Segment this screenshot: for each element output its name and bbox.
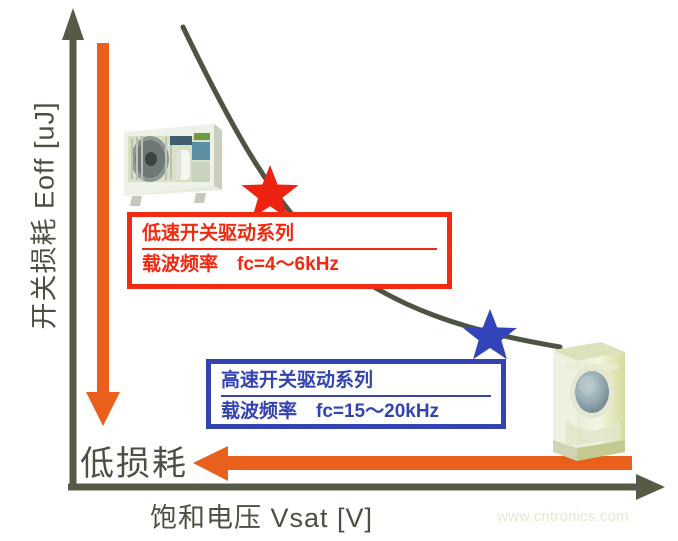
y-axis-label: 开关损耗 Eoff [uJ] bbox=[23, 26, 62, 406]
eoff-decrease-arrow bbox=[86, 43, 120, 426]
high-speed-callout-detail: 载波频率 fc=15〜20kHz bbox=[221, 397, 491, 425]
low-speed-callout-title: 低速开关驱动系列 bbox=[142, 222, 437, 250]
low-speed-callout-detail: 载波频率 fc=4〜6kHz bbox=[142, 250, 437, 278]
vsat-decrease-arrow bbox=[193, 446, 632, 481]
air-conditioner-image bbox=[124, 124, 222, 206]
chart-canvas: 开关损耗 Eoff [uJ] 饱和电压 Vsat [V] 低损耗 低速开关驱动系… bbox=[0, 0, 678, 541]
high-speed-star-marker bbox=[463, 309, 517, 359]
low-loss-caption: 低损耗 bbox=[80, 436, 188, 485]
tradeoff-curve bbox=[183, 27, 560, 347]
x-axis-label: 饱和电压 Vsat [V] bbox=[150, 496, 373, 535]
low-speed-callout-box: 低速开关驱动系列 载波频率 fc=4〜6kHz bbox=[127, 212, 452, 289]
low-speed-star-marker bbox=[242, 165, 299, 218]
high-speed-callout-box: 高速开关驱动系列 载波频率 fc=15〜20kHz bbox=[206, 359, 506, 429]
high-speed-callout-title: 高速开关驱动系列 bbox=[221, 369, 491, 397]
washing-machine-image bbox=[553, 342, 625, 461]
y-axis bbox=[62, 8, 84, 487]
watermark-text: www.cntronics.com bbox=[497, 508, 629, 525]
